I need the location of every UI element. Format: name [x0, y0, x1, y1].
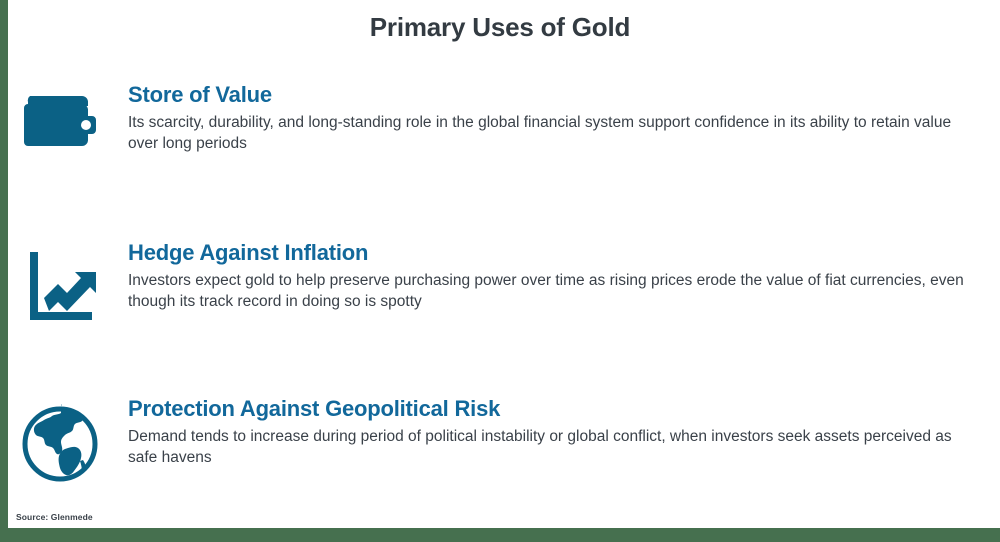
section-description: Its scarcity, durability, and long-stand…: [128, 113, 968, 155]
infographic-canvas: Primary Uses of Gold Store of Value Its …: [8, 0, 1000, 528]
page-title: Primary Uses of Gold: [8, 12, 992, 43]
section-body: Hedge Against Inflation Investors expect…: [128, 240, 974, 313]
section-body: Store of Value Its scarcity, durability,…: [128, 82, 974, 155]
section-description: Demand tends to increase during period o…: [128, 427, 968, 469]
section-description: Investors expect gold to help preserve p…: [128, 271, 968, 313]
wallet-icon: [16, 90, 104, 176]
section-body: Protection Against Geopolitical Risk Dem…: [128, 396, 974, 469]
section-heading: Hedge Against Inflation: [128, 240, 974, 265]
section-heading: Store of Value: [128, 82, 974, 107]
growth-chart-icon: [16, 248, 104, 334]
source-note: Source: Glenmede: [16, 512, 93, 522]
section-heading: Protection Against Geopolitical Risk: [128, 396, 974, 421]
globe-icon: [16, 404, 104, 490]
